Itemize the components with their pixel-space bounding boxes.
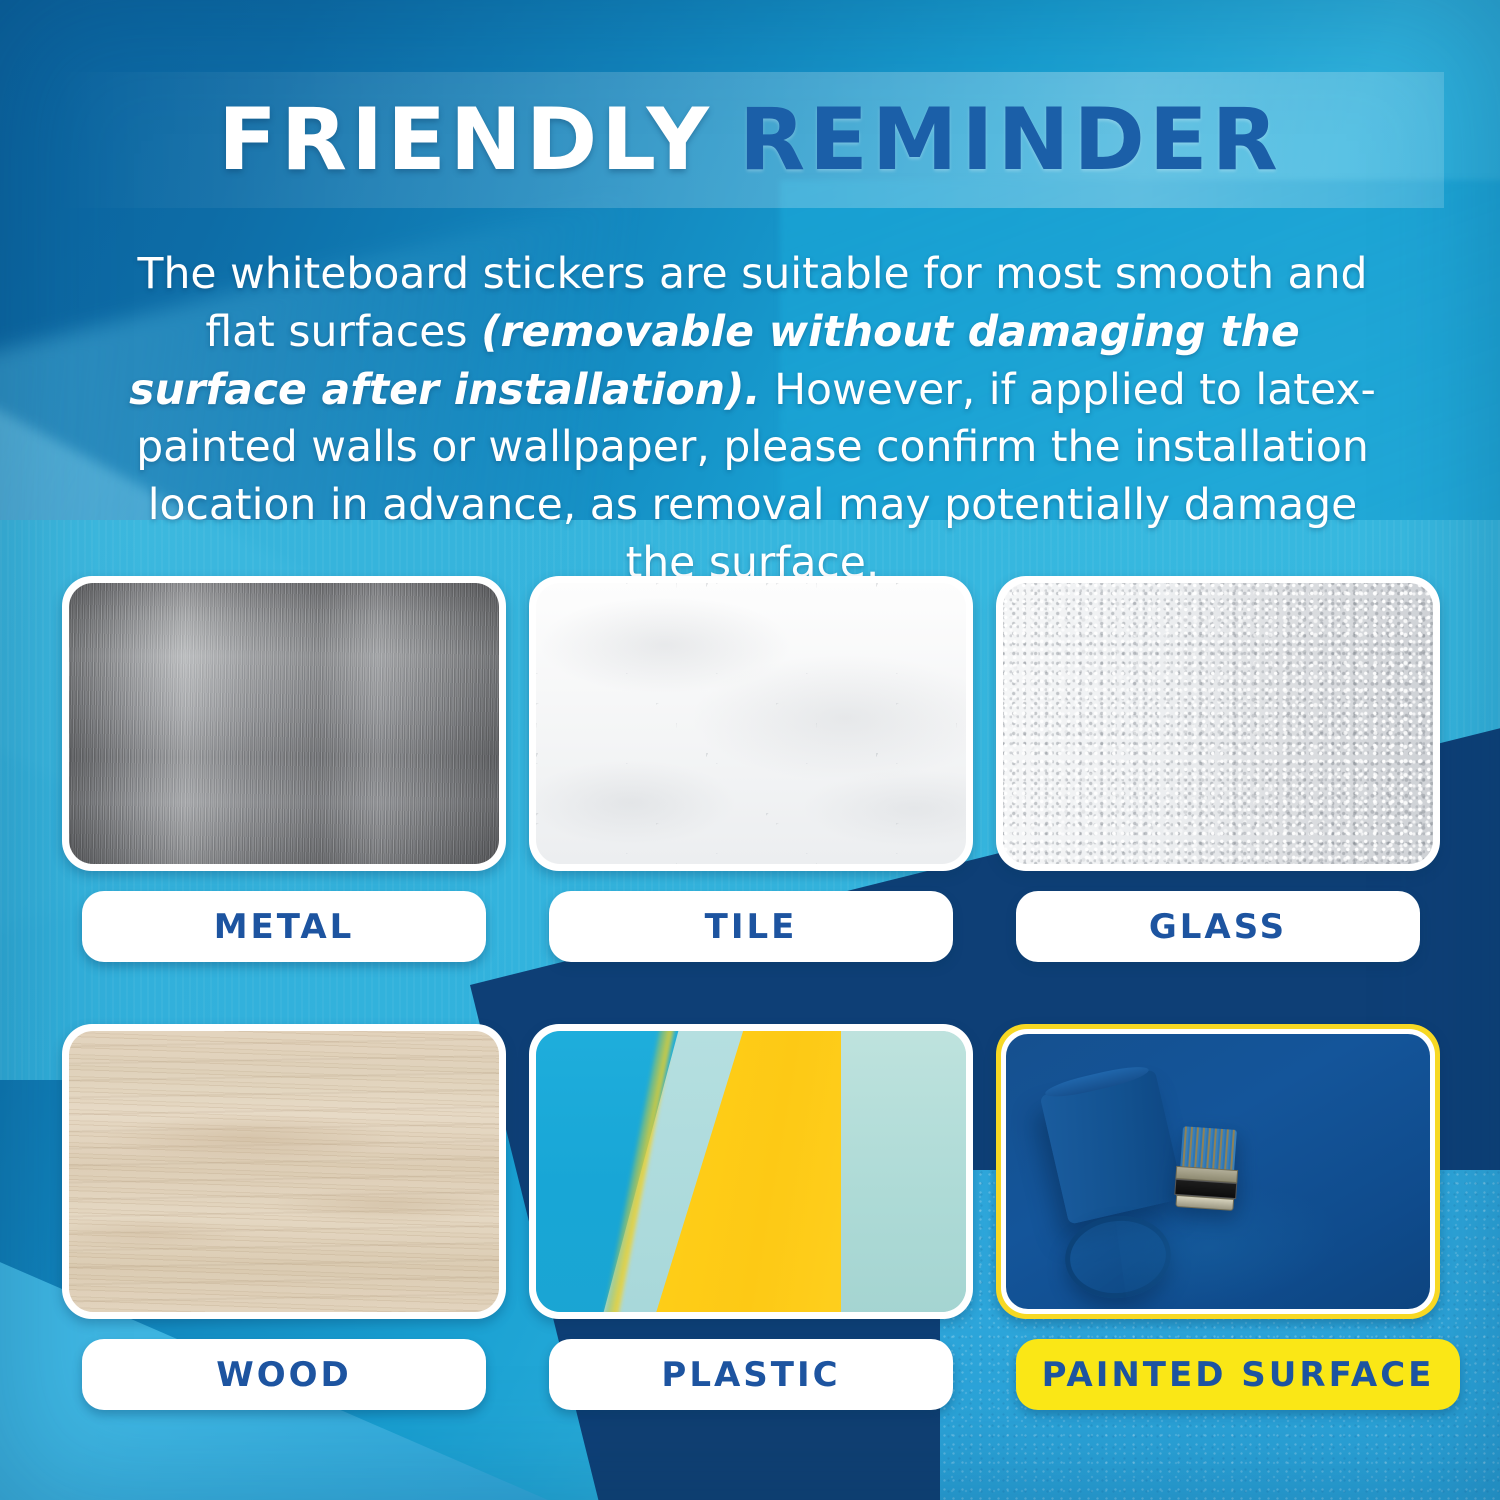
friendly-reminder-infographic: FRIENDLY REMINDER The whiteboard sticker… <box>0 0 1500 1500</box>
swatch-white-inner-ring <box>1001 1029 1435 1314</box>
marble-tile-swatch <box>529 576 973 871</box>
surface-card-painted-surface[interactable]: PAINTED SURFACE <box>996 1024 1440 1410</box>
swatch-image-area <box>69 583 499 864</box>
marble-texture <box>536 583 966 864</box>
painted-wall-swatch <box>996 1024 1440 1319</box>
surface-card-wood[interactable]: WOOD <box>62 1024 506 1410</box>
brush-bristles <box>1180 1126 1237 1172</box>
surface-card-metal[interactable]: METAL <box>62 576 506 962</box>
swatch-image-area <box>69 1031 499 1312</box>
body-paragraph: The whiteboard stickers are suitable for… <box>110 246 1395 593</box>
page-title-reminder: REMINDER <box>739 90 1282 190</box>
surface-label-metal: METAL <box>82 891 486 962</box>
page-title-friendly: FRIENDLY <box>218 90 713 190</box>
surface-card-tile[interactable]: TILE <box>529 576 973 962</box>
paint-brush-icon <box>1173 1125 1241 1215</box>
light-wood-swatch <box>62 1024 506 1319</box>
surface-card-plastic[interactable]: PLASTIC <box>529 1024 973 1410</box>
surface-label-painted-surface: PAINTED SURFACE <box>1016 1339 1460 1410</box>
surface-grid: METAL TILE GLASS <box>62 576 1440 1410</box>
glass-texture <box>1003 583 1433 864</box>
swatch-image-area <box>536 1031 966 1312</box>
brushed-metal-swatch <box>62 576 506 871</box>
swatch-image-area <box>536 583 966 864</box>
painted-wall-texture <box>1006 1034 1430 1309</box>
swatch-image-area <box>1003 583 1433 864</box>
surface-row-top: METAL TILE GLASS <box>62 576 1440 962</box>
surface-label-tile: TILE <box>549 891 953 962</box>
metal-texture <box>69 583 499 864</box>
page-title: FRIENDLY REMINDER <box>0 78 1500 202</box>
surface-row-bottom: WOOD PLASTIC <box>62 1024 1440 1410</box>
colored-plastic-swatch <box>529 1024 973 1319</box>
frosted-glass-swatch <box>996 576 1440 871</box>
wood-texture <box>69 1031 499 1312</box>
surface-label-plastic: PLASTIC <box>549 1339 953 1410</box>
surface-card-glass[interactable]: GLASS <box>996 576 1440 962</box>
surface-label-wood: WOOD <box>82 1339 486 1410</box>
plastic-texture <box>536 1031 966 1312</box>
plastic-mint-band <box>841 1031 966 1312</box>
surface-label-glass: GLASS <box>1016 891 1420 962</box>
